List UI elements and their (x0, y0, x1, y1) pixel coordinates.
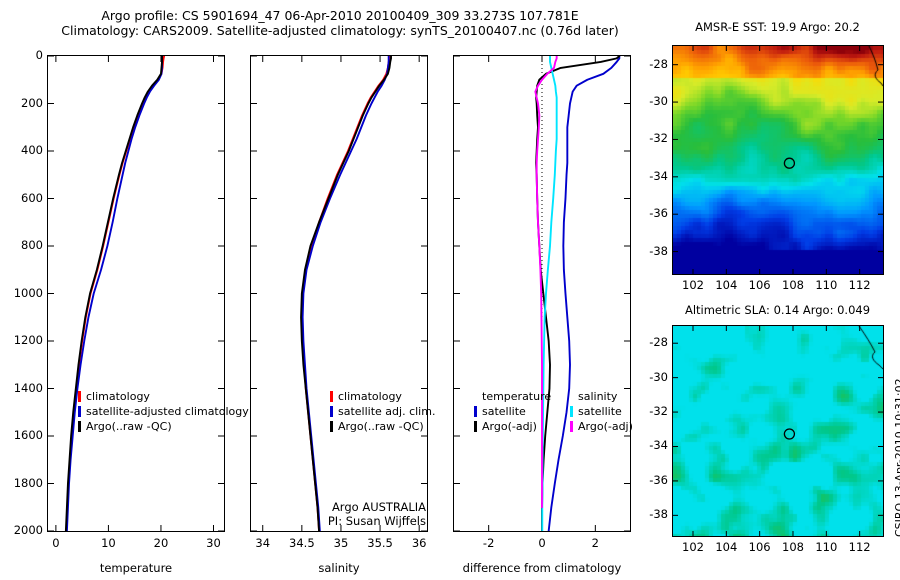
sst-map-ticks (673, 46, 883, 274)
legend-entry: satellite adj. clim. (330, 404, 435, 419)
legend-color-swatch (78, 391, 81, 402)
map-latitude-label: -38 (634, 507, 668, 521)
sla-map-panel[interactable] (672, 325, 884, 537)
legend-label: climatology (338, 389, 402, 404)
temperature-profile-plot (48, 56, 224, 531)
credit-line-1: Argo AUSTRALIA (268, 500, 426, 514)
depth-tick-label: 1000 (0, 286, 43, 300)
depth-tick-label: 800 (0, 238, 43, 252)
legend-spacer (570, 391, 573, 402)
legend-entry: satellite-adjusted climatology (78, 404, 249, 419)
credit-line-2: PI: Susan Wijffels (268, 514, 426, 528)
xtick-label: -2 (459, 536, 519, 550)
depth-tick-label: 1200 (0, 333, 43, 347)
legend-entry: climatology (330, 389, 435, 404)
title-line-1: Argo profile: CS 5901694_47 06-Apr-2010 … (0, 8, 680, 23)
map-latitude-label: -28 (634, 57, 668, 71)
depth-tick-label: 1400 (0, 381, 43, 395)
legend-heading-row: temperature (474, 389, 551, 404)
map-latitude-label: -28 (634, 335, 668, 349)
legend-spacer (474, 391, 477, 402)
map-longitude-label: 112 (835, 278, 885, 292)
salinity-legend: climatologysatellite adj. clim.Argo(..ra… (330, 389, 435, 434)
legend-color-swatch (330, 391, 333, 402)
map-latitude-label: -30 (634, 370, 668, 384)
legend-label: satellite (482, 404, 526, 419)
xtick-label: 36 (389, 536, 449, 550)
legend-label: Argo(-adj) (482, 419, 537, 434)
salinity-profile-plot (251, 56, 427, 531)
argo-program-credit: Argo AUSTRALIA PI: Susan Wijffels (268, 500, 426, 528)
legend-color-swatch (330, 421, 333, 432)
depth-tick-label: 400 (0, 143, 43, 157)
legend-color-swatch (570, 421, 573, 432)
xtick-label: 0 (512, 536, 572, 550)
legend-label: satellite (578, 404, 622, 419)
sst-map-title: AMSR-E SST: 19.9 Argo: 20.2 (665, 20, 890, 34)
depth-tick-label: 2000 (0, 523, 43, 537)
difference-legend-temperature: temperaturesatelliteArgo(-adj) (474, 389, 551, 434)
temperature-legend: climatologysatellite-adjusted climatolog… (78, 389, 249, 434)
difference-axis-label: difference from climatology (443, 561, 641, 575)
legend-heading-row: salinity (570, 389, 633, 404)
legend-heading: temperature (482, 389, 551, 404)
depth-tick-label: 200 (0, 96, 43, 110)
legend-entry: Argo(-adj) (474, 419, 551, 434)
depth-tick-label: 1600 (0, 428, 43, 442)
legend-entry: Argo(..raw -QC) (78, 419, 249, 434)
legend-label: satellite-adjusted climatology (86, 404, 249, 419)
map-latitude-label: -34 (634, 438, 668, 452)
sla-map-ticks (673, 326, 883, 536)
map-latitude-label: -34 (634, 169, 668, 183)
legend-color-swatch (474, 421, 477, 432)
legend-color-swatch (330, 406, 333, 417)
csiro-timestamp: CSIRO 13-Apr-2010 10:31:02 (893, 378, 900, 537)
difference-profile-plot (454, 56, 630, 531)
legend-label: Argo(-adj) (578, 419, 633, 434)
map-latitude-label: -36 (634, 206, 668, 220)
map-latitude-label: -30 (634, 94, 668, 108)
legend-entry: climatology (78, 389, 249, 404)
legend-label: Argo(..raw -QC) (338, 419, 424, 434)
legend-label: satellite adj. clim. (338, 404, 435, 419)
xtick-label: 0 (26, 536, 86, 550)
legend-color-swatch (78, 421, 81, 432)
legend-color-swatch (78, 406, 81, 417)
map-latitude-label: -32 (634, 131, 668, 145)
legend-entry: satellite (474, 404, 551, 419)
legend-color-swatch (474, 406, 477, 417)
legend-entry: Argo(-adj) (570, 419, 633, 434)
xtick-label: 10 (78, 536, 138, 550)
salinity-axis-label: salinity (250, 561, 428, 575)
legend-color-swatch (570, 406, 573, 417)
figure-title: Argo profile: CS 5901694_47 06-Apr-2010 … (0, 8, 680, 38)
depth-tick-label: 1800 (0, 476, 43, 490)
legend-label: climatology (86, 389, 150, 404)
figure-canvas: Argo profile: CS 5901694_47 06-Apr-2010 … (0, 0, 900, 580)
xtick-label: 20 (131, 536, 191, 550)
legend-entry: Argo(..raw -QC) (330, 419, 435, 434)
legend-label: Argo(..raw -QC) (86, 419, 172, 434)
map-latitude-label: -36 (634, 473, 668, 487)
difference-legend-salinity: salinitysatelliteArgo(-adj) (570, 389, 633, 434)
difference-profile-panel[interactable] (453, 55, 631, 532)
map-latitude-label: -38 (634, 244, 668, 258)
depth-tick-label: 0 (0, 48, 43, 62)
sla-map-title: Altimetric SLA: 0.14 Argo: 0.049 (665, 303, 890, 317)
map-longitude-label: 112 (835, 540, 885, 554)
temperature-axis-label: temperature (47, 561, 225, 575)
salinity-profile-panel[interactable] (250, 55, 428, 532)
depth-tick-label: 600 (0, 191, 43, 205)
legend-heading: salinity (578, 389, 617, 404)
title-line-2: Climatology: CARS2009. Satellite-adjuste… (0, 23, 680, 38)
xtick-label: 2 (565, 536, 625, 550)
temperature-profile-panel[interactable] (47, 55, 225, 532)
legend-entry: satellite (570, 404, 633, 419)
map-latitude-label: -32 (634, 404, 668, 418)
sst-map-panel[interactable] (672, 45, 884, 275)
